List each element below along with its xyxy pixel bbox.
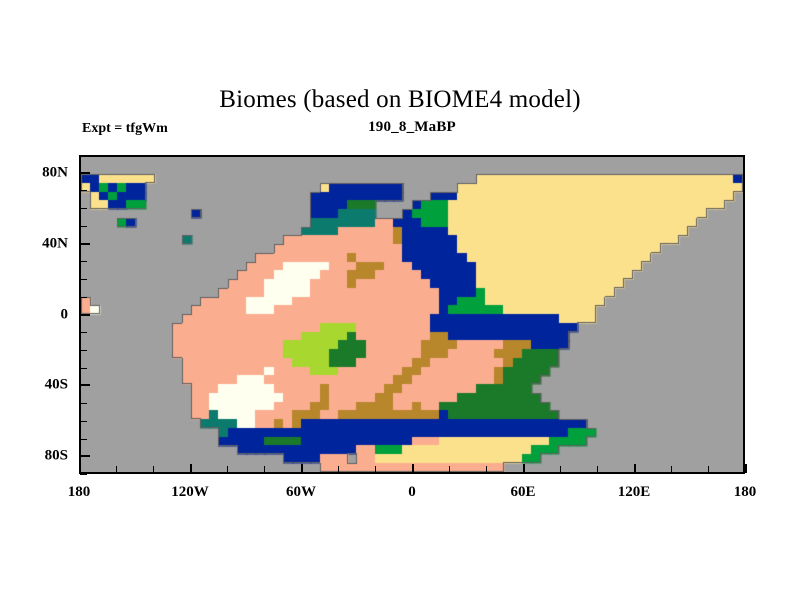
- x-minor-tick: [597, 466, 598, 473]
- y-minor-tick: [80, 261, 87, 262]
- page-title: Biomes (based on BIOME4 model): [0, 86, 800, 114]
- x-minor-tick: [338, 466, 339, 473]
- y-major-tick: [80, 384, 90, 386]
- y-minor-tick: [80, 190, 87, 191]
- x-minor-tick: [116, 466, 117, 473]
- y-minor-tick: [80, 208, 87, 209]
- map-plot-area: [79, 155, 745, 474]
- y-minor-tick: [80, 155, 87, 156]
- y-major-tick: [80, 243, 90, 245]
- y-axis-label-2: 0: [0, 307, 68, 324]
- x-axis-label-3: 0: [408, 484, 416, 501]
- y-axis-label-4: 80S: [0, 448, 68, 465]
- y-major-tick: [80, 314, 90, 316]
- y-minor-tick: [80, 439, 87, 440]
- y-axis-label-3: 40S: [0, 377, 68, 394]
- x-major-tick: [190, 464, 192, 473]
- x-axis-label-1: 120W: [171, 484, 209, 501]
- y-minor-tick: [80, 421, 87, 422]
- x-axis-label-4: 60E: [510, 484, 535, 501]
- x-axis-label-6: 180: [734, 484, 757, 501]
- y-minor-tick: [80, 368, 87, 369]
- y-axis-label-1: 40N: [0, 236, 68, 253]
- figure-page: Biomes (based on BIOME4 model) 190_8_MaB…: [0, 0, 800, 600]
- x-major-tick: [523, 464, 525, 473]
- x-major-tick: [301, 464, 303, 473]
- y-axis-label-0: 80N: [0, 165, 68, 182]
- x-major-tick: [634, 464, 636, 473]
- y-minor-tick: [80, 279, 87, 280]
- x-minor-tick: [375, 466, 376, 473]
- x-axis-label-0: 180: [68, 484, 91, 501]
- x-minor-tick: [153, 466, 154, 473]
- figure-subtitle: 190_8_MaBP: [79, 119, 745, 136]
- x-axis-label-5: 120E: [618, 484, 651, 501]
- y-minor-tick: [80, 226, 87, 227]
- x-minor-tick: [560, 466, 561, 473]
- y-major-tick: [80, 455, 90, 457]
- y-major-tick: [80, 172, 90, 174]
- y-minor-tick: [80, 403, 87, 404]
- x-major-tick: [745, 464, 747, 473]
- x-minor-tick: [671, 466, 672, 473]
- y-minor-tick: [80, 350, 87, 351]
- y-minor-tick: [80, 297, 87, 298]
- x-major-tick: [412, 464, 414, 473]
- x-major-tick: [79, 464, 81, 473]
- biome-map-canvas: [81, 157, 743, 472]
- x-minor-tick: [708, 466, 709, 473]
- x-minor-tick: [486, 466, 487, 473]
- x-axis-label-2: 60W: [286, 484, 316, 501]
- y-minor-tick: [80, 332, 87, 333]
- x-minor-tick: [449, 466, 450, 473]
- x-minor-tick: [227, 466, 228, 473]
- y-minor-tick: [80, 474, 87, 475]
- experiment-label: Expt = tfgWm: [82, 121, 168, 137]
- x-minor-tick: [264, 466, 265, 473]
